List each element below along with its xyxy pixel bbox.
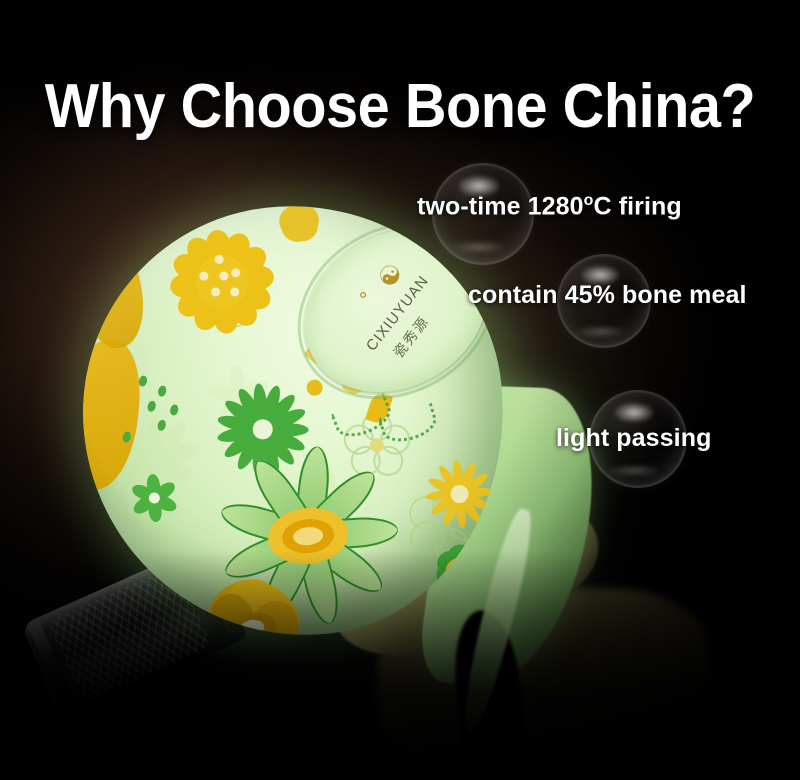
annotation-light-passing: light passing — [556, 424, 711, 453]
bubble-highlight-lower — [575, 325, 627, 338]
annotation-bone-meal: contain 45% bone meal — [468, 281, 747, 310]
promo-banner: ゜☯ CIXIUYUAN 瓷秀源 Why Choose Bone China? … — [0, 0, 800, 780]
bubble-highlight-lower — [607, 464, 661, 477]
page-title: Why Choose Bone China? — [28, 76, 772, 138]
bubble-highlight — [615, 403, 653, 422]
annotation-firing: two-time 1280oC firing — [417, 192, 682, 221]
annotation-firing-text-before: two-time 1280 — [417, 192, 584, 220]
annotation-firing-text-after: C firing — [594, 192, 682, 220]
bubble-highlight-lower — [451, 240, 507, 254]
vignette-bottom — [0, 550, 800, 780]
degree-symbol-icon: o — [584, 192, 594, 209]
